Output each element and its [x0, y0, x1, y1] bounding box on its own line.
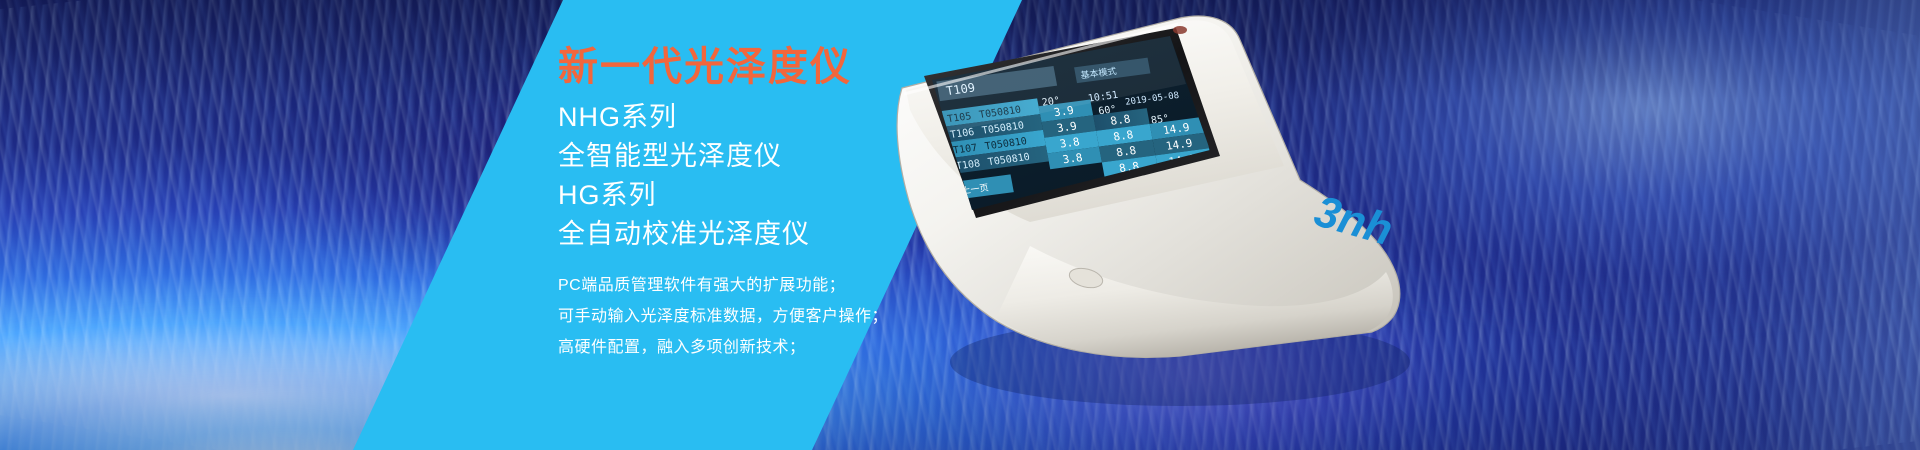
screen-row-v20: 3.8: [1062, 151, 1084, 166]
promo-banner: 新一代光泽度仪 NHG系列 全智能型光泽度仪 HG系列 全自动校准光泽度仪 PC…: [0, 0, 1920, 450]
power-indicator-led: [1173, 26, 1187, 34]
screen-row-v20: 3.9: [1056, 120, 1078, 135]
gloss-meter-device: T109 基本模式 10:51 2019-05-08 20° 60° 85° T…: [880, 10, 1440, 430]
screen-row-v60: 8.8: [1112, 128, 1134, 143]
screen-row-v60: 8.8: [1115, 144, 1137, 159]
screen-row-v20: 3.8: [1059, 135, 1081, 150]
screen-row-v60: 8.8: [1109, 112, 1131, 127]
